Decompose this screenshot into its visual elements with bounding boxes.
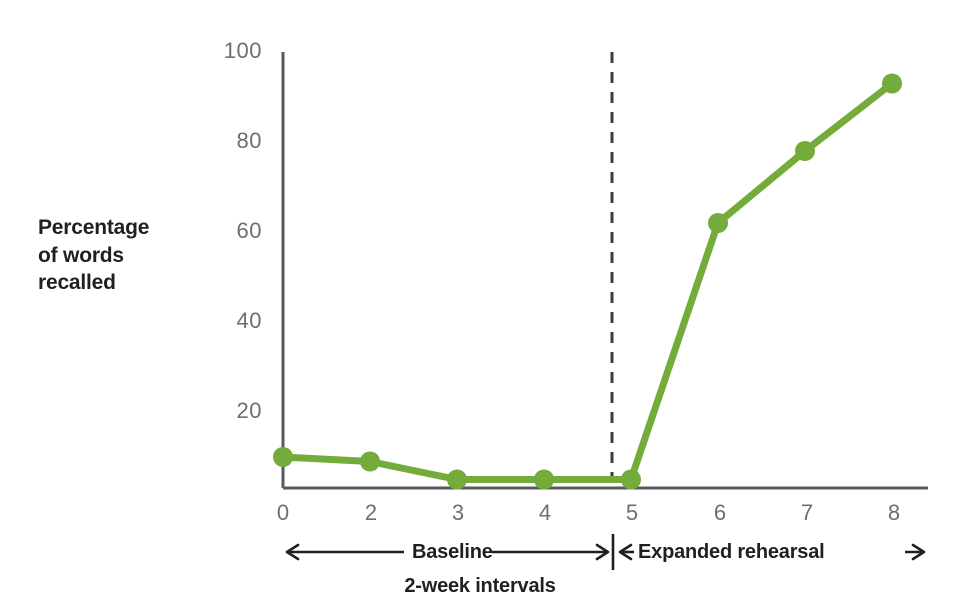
data-point-5 — [621, 470, 641, 490]
line-chart: Percentage of words recalled 100 80 60 — [0, 0, 960, 614]
data-point-2 — [360, 452, 380, 472]
data-point-8 — [882, 74, 902, 94]
data-point-4 — [534, 470, 554, 490]
y-tick-label-40: 40 — [198, 308, 262, 334]
x-tick-label-0: 0 — [263, 500, 303, 526]
y-tick-label-60: 60 — [198, 218, 262, 244]
x-tick-label-3: 3 — [438, 500, 478, 526]
x-tick-label-8: 8 — [874, 500, 914, 526]
data-point-markers — [273, 74, 902, 490]
data-point-6 — [708, 213, 728, 233]
x-tick-label-6: 6 — [700, 500, 740, 526]
data-point-7 — [795, 141, 815, 161]
y-tick-label-20: 20 — [198, 398, 262, 424]
y-tick-label-80: 80 — [198, 128, 262, 154]
y-tick-label-100: 100 — [198, 38, 262, 64]
x-axis-title: 2-week intervals — [0, 575, 960, 598]
x-tick-label-2: 2 — [351, 500, 391, 526]
x-tick-label-4: 4 — [525, 500, 565, 526]
data-point-3 — [447, 470, 467, 490]
x-tick-label-7: 7 — [787, 500, 827, 526]
x-tick-label-5: 5 — [612, 500, 652, 526]
expanded-rehearsal-phase-label: Expanded rehearsal — [638, 541, 825, 564]
data-point-0 — [273, 447, 293, 467]
baseline-phase-label: Baseline — [412, 541, 493, 564]
